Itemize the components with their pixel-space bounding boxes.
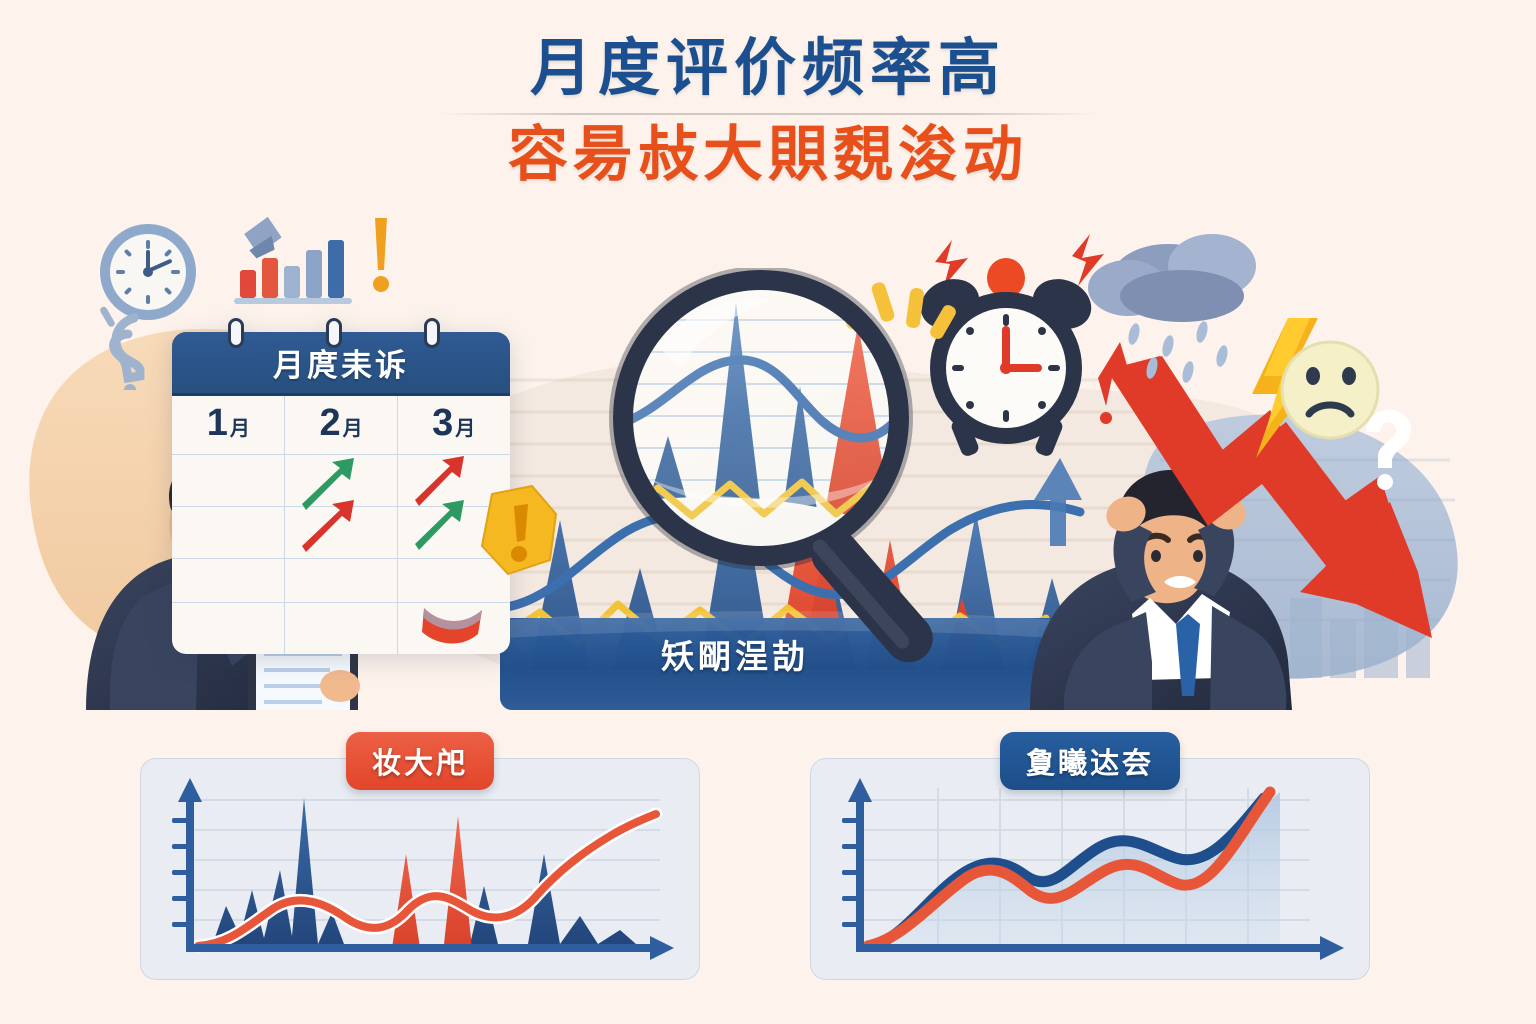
- page-title: 月度评价频率高: [0, 34, 1536, 103]
- right-panel-chart: [810, 758, 1370, 980]
- blue-spikes: [198, 798, 652, 948]
- sad-face-icon: [1282, 342, 1378, 438]
- comparison-panels: 妆大戺: [0, 718, 1536, 1008]
- top-left-icon-cluster: [90, 210, 390, 390]
- trend-arrow-up-green: [415, 500, 464, 550]
- trend-halo: [198, 814, 656, 946]
- magnifier-icon: [596, 268, 1026, 668]
- panel-badge-right: 夐䂀迏夽: [1000, 732, 1180, 790]
- trend-line: [198, 814, 656, 946]
- trend-arrow-up-red: [302, 500, 354, 552]
- calendar-ring: [424, 318, 440, 348]
- exclamation-icon: [373, 218, 389, 292]
- bar-chart-icon: [234, 215, 352, 304]
- title-divider: [438, 113, 1098, 115]
- trend-arrow-up-red: [415, 456, 464, 506]
- calendar-arrows: [172, 396, 510, 654]
- title-block: 月度评价频率高 容昜敊大賏覣浚动: [0, 34, 1536, 189]
- infographic-stage: 月度评价频率高 容昜敊大賏覣浚动: [0, 0, 1536, 1024]
- panel-smoothed: 夐䂀迏夽: [810, 758, 1370, 980]
- clock-icon: [100, 224, 196, 320]
- question-mark-icon: [99, 305, 140, 390]
- warning-exclamation-icon: [470, 480, 570, 590]
- left-panel-chart: [140, 758, 700, 980]
- page-subtitle: 容昜敊大賏覣浚动: [0, 121, 1536, 188]
- calendar-body: 1月 2月 3月: [172, 396, 510, 654]
- panel-badge-left: 妆大戺: [346, 732, 494, 790]
- red-ribbon-icon: [422, 608, 482, 644]
- panel-volatile: 妆大戺: [140, 758, 700, 980]
